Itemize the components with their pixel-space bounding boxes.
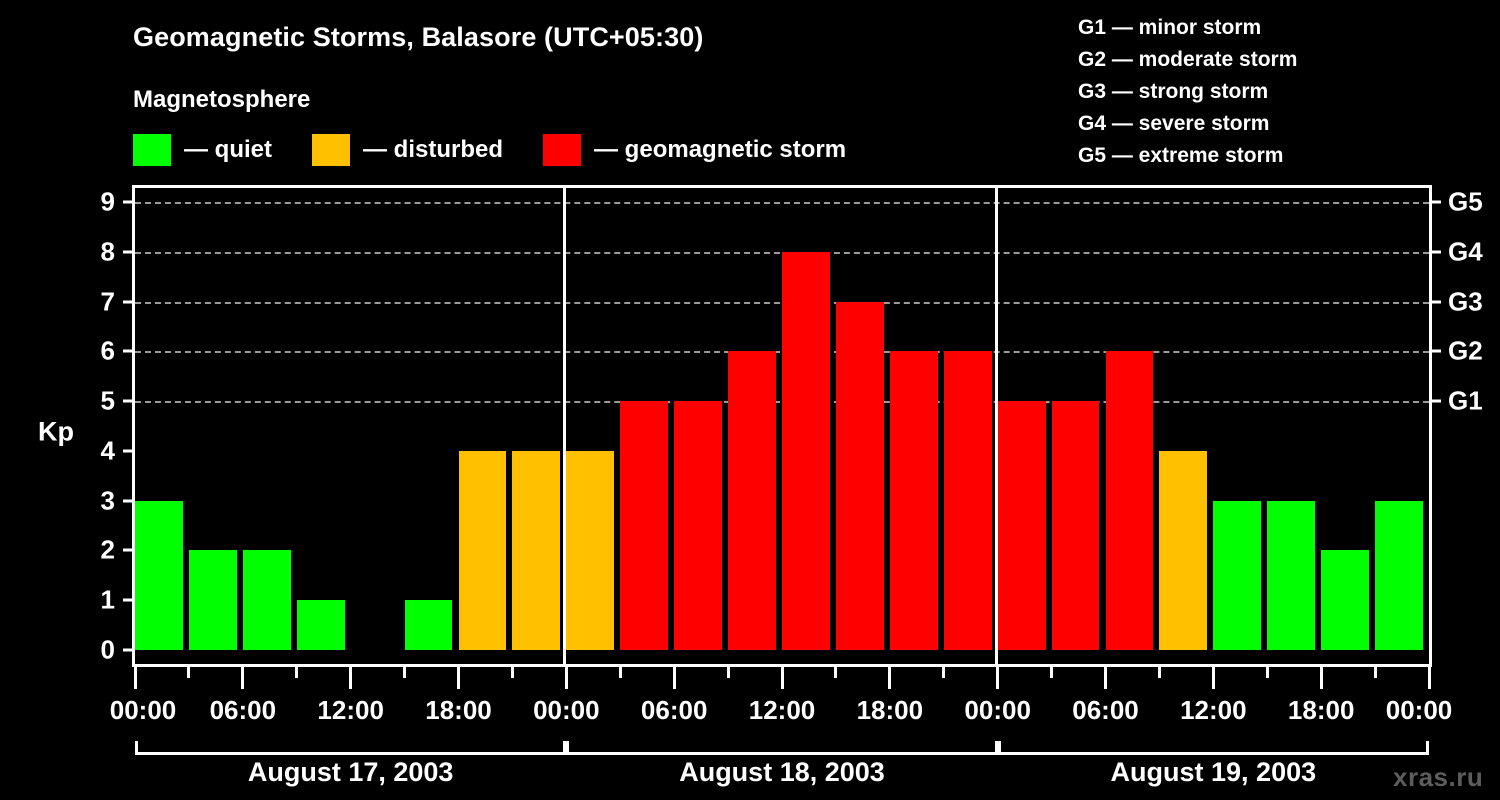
bar	[1052, 401, 1100, 650]
x-axis-tick-minor	[1374, 667, 1377, 678]
y-axis-tick-label: 9	[75, 187, 115, 218]
g-axis-tick-label: G4	[1448, 236, 1483, 267]
x-axis-tick-minor	[403, 667, 406, 678]
gscale-legend-line: G3 — strong storm	[1078, 76, 1297, 108]
gscale-legend-line: G1 — minor storm	[1078, 12, 1297, 44]
g-axis-tick	[1430, 250, 1441, 253]
g-axis-tick-label: G1	[1448, 386, 1483, 417]
g-axis-tick-label: G3	[1448, 286, 1483, 317]
gscale-legend-line: G2 — moderate storm	[1078, 44, 1297, 76]
x-axis-tick-major	[1320, 667, 1323, 689]
bar	[405, 600, 453, 650]
legend-item: — geomagnetic storm	[543, 134, 846, 166]
x-axis-tick-major	[1104, 667, 1107, 689]
x-axis-tick-minor	[1050, 667, 1053, 678]
watermark: xras.ru	[1393, 762, 1483, 793]
x-axis-tick-major	[349, 667, 352, 689]
x-axis-time-label: 18:00	[425, 695, 492, 726]
bar	[836, 302, 884, 650]
x-axis-time-label: 00:00	[533, 695, 600, 726]
x-axis-tick-major	[565, 667, 568, 689]
y-axis-tick	[123, 350, 134, 353]
bar	[512, 451, 560, 650]
bar	[1106, 351, 1154, 650]
plot-area	[132, 185, 1432, 667]
gscale-legend-line: G4 — severe storm	[1078, 108, 1297, 140]
y-axis-tick-label: 6	[75, 336, 115, 367]
x-axis-tick-minor	[619, 667, 622, 678]
date-label: August 18, 2003	[679, 757, 885, 788]
bar	[243, 550, 291, 650]
bar	[620, 401, 668, 650]
y-axis-tick-label: 5	[75, 386, 115, 417]
x-axis-tick-minor	[1266, 667, 1269, 678]
bar	[459, 451, 507, 650]
y-axis-tick	[123, 300, 134, 303]
legend-item: — disturbed	[312, 134, 503, 166]
g-axis-tick	[1430, 201, 1441, 204]
bar	[782, 252, 830, 650]
x-axis-tick-minor	[727, 667, 730, 678]
legend-item: — quiet	[133, 134, 272, 166]
date-bracket	[135, 741, 566, 755]
bar	[1267, 501, 1315, 650]
bar	[189, 550, 237, 650]
x-axis-tick-minor	[511, 667, 514, 678]
x-axis-time-label: 12:00	[317, 695, 384, 726]
gscale-legend-line: G5 — extreme storm	[1078, 140, 1297, 172]
x-axis-time-label: 06:00	[210, 695, 277, 726]
x-axis-time-label: 00:00	[1386, 695, 1453, 726]
x-axis-time-label: 06:00	[1072, 695, 1139, 726]
y-axis-tick	[123, 599, 134, 602]
y-axis-tick	[123, 400, 134, 403]
g-axis-tick	[1430, 350, 1441, 353]
g-axis-tick-label: G2	[1448, 336, 1483, 367]
date-bracket	[998, 741, 1429, 755]
legend-heading: Magnetosphere	[133, 86, 310, 114]
x-axis-time-label: 12:00	[749, 695, 816, 726]
x-axis-tick-minor	[295, 667, 298, 678]
x-axis-tick-minor	[942, 667, 945, 678]
y-axis-label: Kp	[38, 417, 74, 448]
y-axis-tick-label: 4	[75, 435, 115, 466]
bar	[1213, 501, 1261, 650]
bar	[566, 451, 614, 650]
gscale-legend: G1 — minor stormG2 — moderate stormG3 — …	[1078, 12, 1297, 172]
x-axis-tick-major	[996, 667, 999, 689]
g-axis-tick-label: G5	[1448, 187, 1483, 218]
x-axis-tick-major	[781, 667, 784, 689]
x-axis-tick-minor	[834, 667, 837, 678]
y-axis-tick	[123, 649, 134, 652]
y-axis-tick-label: 1	[75, 585, 115, 616]
y-axis-tick-label: 0	[75, 635, 115, 666]
day-divider	[563, 188, 566, 664]
bar	[674, 401, 722, 650]
bar	[944, 351, 992, 650]
legend-item-label: — quiet	[184, 136, 272, 164]
bar	[1159, 451, 1207, 650]
bar	[1375, 501, 1423, 650]
y-axis-tick-label: 8	[75, 236, 115, 267]
x-axis-tick-major	[134, 667, 137, 689]
bar	[1321, 550, 1369, 650]
x-axis-tick-major	[1428, 667, 1431, 689]
bar	[728, 351, 776, 650]
x-axis-time-label: 00:00	[964, 695, 1031, 726]
x-axis-tick-major	[457, 667, 460, 689]
y-axis-tick	[123, 549, 134, 552]
legend-item-label: — geomagnetic storm	[594, 136, 846, 164]
y-axis-tick	[123, 449, 134, 452]
legend-item-label: — disturbed	[363, 136, 503, 164]
x-axis-time-label: 00:00	[110, 695, 177, 726]
green-square-icon	[133, 134, 171, 166]
g-axis-tick	[1430, 400, 1441, 403]
y-axis-tick-label: 2	[75, 535, 115, 566]
y-axis-tick	[123, 499, 134, 502]
y-axis-tick-label: 7	[75, 286, 115, 317]
g-axis-tick	[1430, 300, 1441, 303]
x-axis-tick-minor	[187, 667, 190, 678]
x-axis-tick-minor	[1158, 667, 1161, 678]
bar	[297, 600, 345, 650]
y-axis-tick	[123, 250, 134, 253]
page-title: Geomagnetic Storms, Balasore (UTC+05:30)	[133, 22, 703, 53]
x-axis-tick-major	[673, 667, 676, 689]
y-axis-tick-label: 3	[75, 485, 115, 516]
x-axis-time-label: 18:00	[857, 695, 924, 726]
red-square-icon	[543, 134, 581, 166]
bar-series	[135, 188, 1429, 664]
x-axis-tick-major	[241, 667, 244, 689]
x-axis-tick-major	[888, 667, 891, 689]
x-axis-tick-major	[1212, 667, 1215, 689]
x-axis-time-label: 06:00	[641, 695, 708, 726]
date-label: August 17, 2003	[248, 757, 454, 788]
legend: — quiet— disturbed— geomagnetic storm	[133, 133, 886, 167]
x-axis-time-label: 12:00	[1180, 695, 1247, 726]
bar	[890, 351, 938, 650]
y-axis-tick	[123, 201, 134, 204]
bar	[998, 401, 1046, 650]
x-axis-time-label: 18:00	[1288, 695, 1355, 726]
bar	[135, 501, 183, 650]
day-divider	[995, 188, 998, 664]
date-bracket	[566, 741, 997, 755]
plot-inner	[135, 188, 1429, 664]
date-label: August 19, 2003	[1111, 757, 1317, 788]
amber-square-icon	[312, 134, 350, 166]
